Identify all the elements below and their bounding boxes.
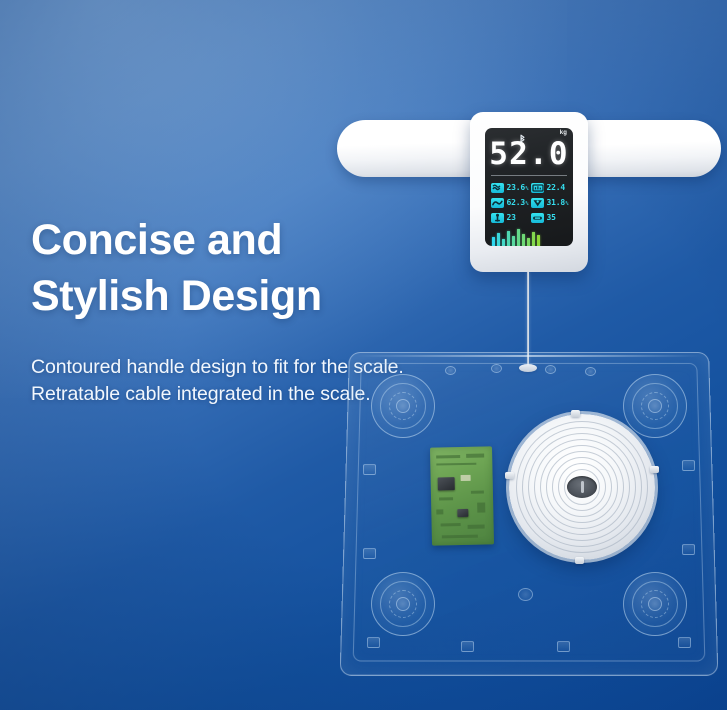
metric-cell-1: 23.6%: [489, 180, 529, 195]
display-console: kg 52.0 23.6%22.462.3%31.8%2335: [470, 112, 588, 272]
electrode-bottom-left: [371, 572, 435, 636]
lcd-status-row: kg: [485, 128, 573, 140]
bar-graph-bar-8: [527, 238, 530, 246]
lcd-divider: [491, 175, 567, 176]
cable-reel: [509, 414, 655, 560]
visceral-fat-icon: [531, 213, 544, 223]
metric-value-6: 35: [547, 213, 556, 222]
muscle-icon: [491, 198, 504, 208]
metric-cell-6: 35: [529, 210, 569, 225]
bar-graph-bar-1: [492, 237, 495, 246]
bar-graph-bar-9: [532, 232, 535, 246]
transparent-scale-platform: [349, 352, 709, 662]
platform-edge-highlight: [357, 355, 701, 357]
metrics-grid: 23.6%22.462.3%31.8%2335: [489, 180, 569, 225]
metric-value-3: 62.3%: [507, 198, 529, 207]
bar-graph-bar-10: [537, 235, 540, 246]
bar-graph-bar-5: [512, 236, 515, 246]
metric-value-2: 22.4: [547, 183, 565, 192]
metric-value-4: 31.8%: [547, 198, 569, 207]
body-fat-icon: [531, 198, 544, 208]
electrode-top-right: [623, 374, 687, 438]
bluetooth-icon: [519, 130, 526, 139]
bar-graph-bar-2: [497, 233, 500, 246]
handle-assembly: kg 52.0 23.6%22.462.3%31.8%2335: [336, 112, 722, 277]
bone-mass-icon: [491, 213, 504, 223]
body-composition-bar-graph: [492, 229, 573, 246]
metric-value-5: 23: [507, 213, 516, 222]
electrode-top-left: [371, 374, 435, 438]
metric-cell-2: 22.4: [529, 180, 569, 195]
metric-cell-4: 31.8%: [529, 195, 569, 210]
bar-graph-bar-7: [522, 234, 525, 246]
metric-value-1: 23.6%: [507, 183, 529, 192]
bar-graph-bar-3: [502, 239, 505, 246]
metric-cell-3: 62.3%: [489, 195, 529, 210]
lcd-screen: kg 52.0 23.6%22.462.3%31.8%2335: [485, 128, 573, 246]
bar-graph-bar-6: [517, 229, 520, 246]
body-water-icon: [491, 183, 504, 193]
metric-cell-5: 23: [489, 210, 529, 225]
product-marketing-image: Concise and Stylish Design Contoured han…: [0, 0, 727, 710]
electrode-bottom-right: [623, 572, 687, 636]
weight-value: 52.0: [485, 139, 573, 170]
bmi-icon: [531, 183, 544, 193]
circuit-board: [430, 446, 494, 545]
reel-hub: [567, 476, 597, 498]
weight-unit-label: kg: [560, 130, 567, 136]
bar-graph-bar-4: [507, 231, 510, 246]
